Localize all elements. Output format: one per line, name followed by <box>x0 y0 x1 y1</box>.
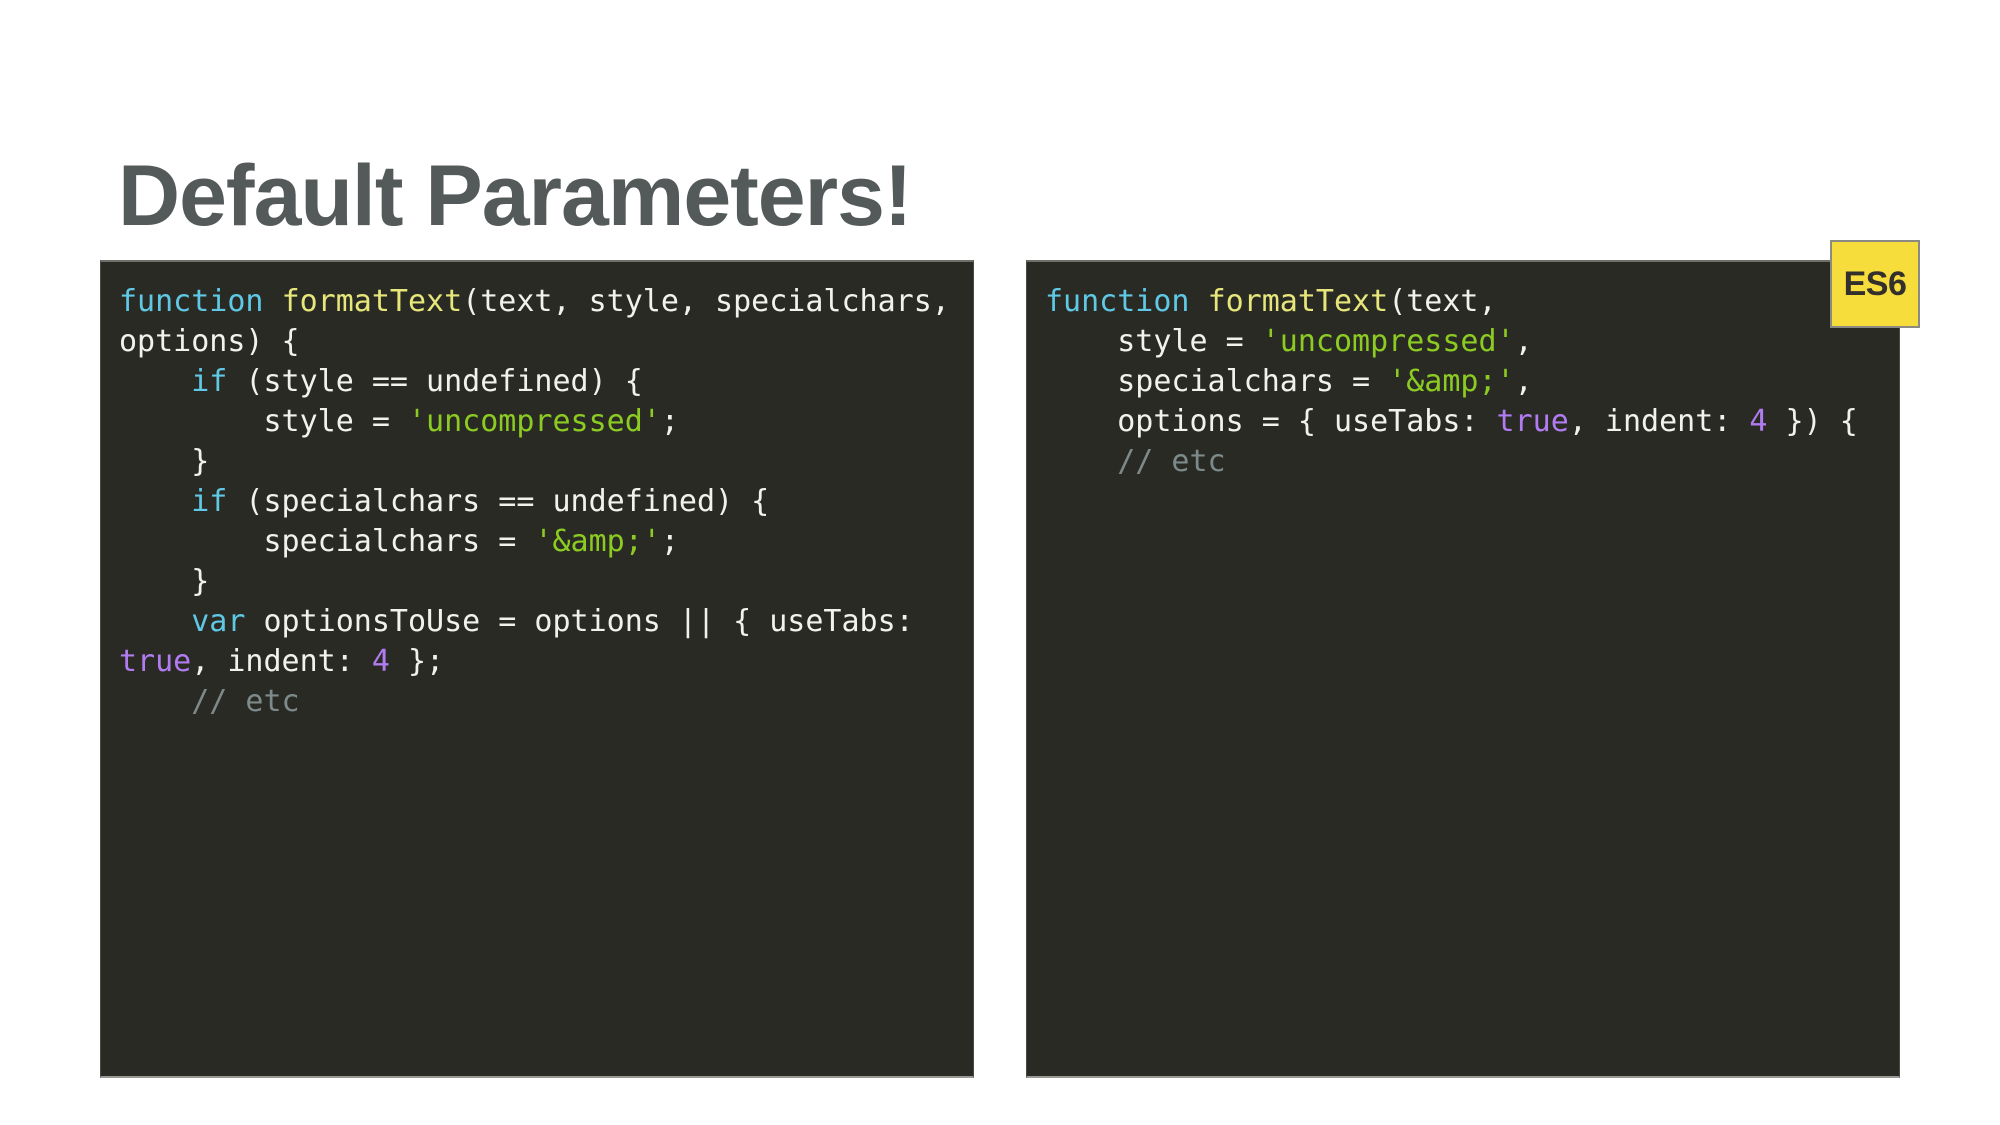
code-token: specialchars = <box>119 524 534 559</box>
code-token <box>1045 444 1117 479</box>
code-token: style = <box>1045 324 1262 359</box>
page-title: Default Parameters! <box>118 148 912 244</box>
code-token: true <box>1497 404 1569 439</box>
code-token: (text, <box>1388 284 1496 319</box>
code-token: } <box>119 444 209 479</box>
code-token: if <box>191 484 227 519</box>
code-token: , <box>1515 364 1533 399</box>
code-token: function <box>1045 284 1208 319</box>
code-token: '&amp;' <box>534 524 660 559</box>
es6-code-text: function formatText(text, style = 'uncom… <box>1045 282 1889 482</box>
es5-code-text: function formatText(text, style, special… <box>119 282 963 722</box>
es6-badge-label: ES6 <box>1844 265 1907 304</box>
code-token: formatText <box>282 284 463 319</box>
code-token: options = { useTabs: <box>1045 404 1497 439</box>
slide-canvas: Default Parameters! function formatText(… <box>0 0 2000 1125</box>
code-token <box>119 604 191 639</box>
code-token: 4 <box>372 644 390 679</box>
code-token: if <box>191 364 227 399</box>
code-token: (style == undefined) { <box>227 364 642 399</box>
code-token <box>119 364 191 399</box>
code-token: formatText <box>1208 284 1389 319</box>
code-token: } <box>119 564 209 599</box>
code-token: }; <box>390 644 444 679</box>
code-token: '&amp;' <box>1388 364 1514 399</box>
es5-code-panel: function formatText(text, style, special… <box>100 260 974 1078</box>
code-token: // etc <box>1117 444 1225 479</box>
code-token: (specialchars == undefined) { <box>227 484 769 519</box>
code-token: ; <box>661 404 679 439</box>
code-token: , indent: <box>191 644 372 679</box>
es6-version-badge: ES6 <box>1830 240 1920 328</box>
code-token: 'uncompressed' <box>408 404 661 439</box>
code-token: }) { <box>1767 404 1857 439</box>
code-token: // etc <box>191 684 299 719</box>
es6-code-panel: function formatText(text, style = 'uncom… <box>1026 260 1900 1078</box>
code-token: style = <box>119 404 408 439</box>
code-token <box>119 684 191 719</box>
code-token: function <box>119 284 282 319</box>
code-token: optionsToUse = options || { useTabs: <box>245 604 931 639</box>
code-token: 4 <box>1749 404 1767 439</box>
code-token: , <box>1515 324 1533 359</box>
code-token: 'uncompressed' <box>1262 324 1515 359</box>
code-token: specialchars = <box>1045 364 1388 399</box>
code-token: ; <box>661 524 679 559</box>
code-token: , indent: <box>1569 404 1750 439</box>
code-token: var <box>191 604 245 639</box>
code-token: true <box>119 644 191 679</box>
code-token <box>119 484 191 519</box>
